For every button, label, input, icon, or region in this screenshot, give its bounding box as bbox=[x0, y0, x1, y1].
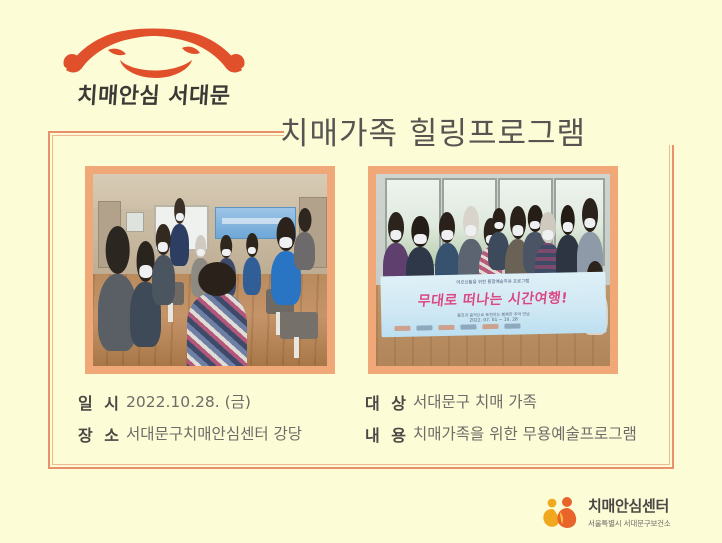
two-figures-heart-mark-icon bbox=[540, 497, 584, 531]
center-logo-text: 치매안심센터 서울특별시 서대문구보건소 bbox=[588, 495, 671, 529]
page-title: 치매가족 힐링프로그램 bbox=[280, 108, 680, 153]
poster-canvas: 치매안심 서대문 bbox=[0, 0, 722, 543]
center-logo-title: 치매안심센터 bbox=[588, 495, 671, 516]
info-value-place: 서대문구치매안심센터 강당 bbox=[126, 422, 302, 444]
center-logo: 치매안심센터 서울특별시 서대문구보건소 bbox=[540, 493, 700, 537]
info-value-target: 서대문구 치매 가족 bbox=[413, 390, 537, 412]
info-label-content: 내 용 bbox=[365, 422, 409, 446]
brand-logo-name: 치매안심 서대문 bbox=[43, 78, 265, 110]
center-logo-subtitle: 서울특별시 서대문구보건소 bbox=[588, 518, 671, 529]
info-label-date: 일 시 bbox=[78, 390, 122, 414]
event-info: 일 시 2022.10.28. (금) 대 상 서대문구 치매 가족 장 소 서… bbox=[48, 131, 674, 469]
info-label-target: 대 상 bbox=[365, 390, 409, 414]
info-label-place: 장 소 bbox=[78, 422, 122, 446]
gate-roof-brush-mark-icon bbox=[56, 16, 252, 82]
info-value-date: 2022.10.28. (금) bbox=[126, 390, 251, 412]
info-value-content: 치매가족을 위한 무용예술프로그램 bbox=[413, 422, 637, 444]
brand-logo: 치매안심 서대문 bbox=[44, 16, 264, 118]
content-frame: 어르신들을 위한 통합예술치유 프로그램 무대로 떠나는 시간여행! 몸짓과 음… bbox=[48, 131, 674, 469]
